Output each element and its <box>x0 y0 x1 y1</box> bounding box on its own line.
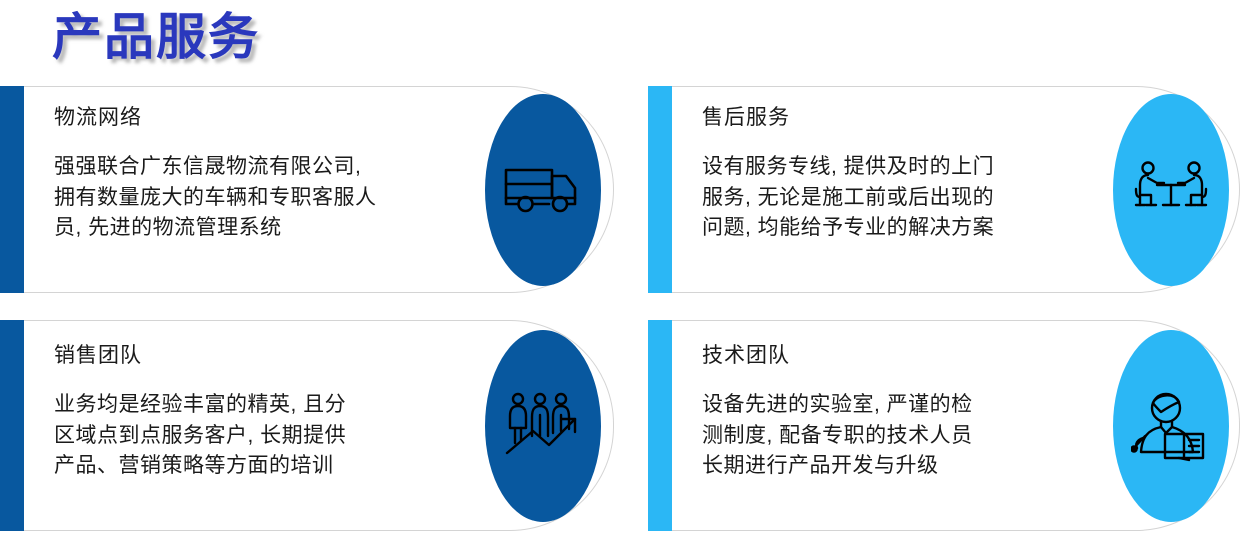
card-accent-bar <box>0 320 24 531</box>
team-growth-chart-icon <box>503 391 583 461</box>
card-title: 售后服务 <box>702 105 1109 130</box>
card-description: 强强联合广东信晟物流有限公司, 拥有数量庞大的车辆和专职客服人 员, 先进的物流… <box>54 152 483 243</box>
delivery-truck-icon <box>504 164 582 216</box>
card-accent-bar <box>648 86 672 293</box>
card-title: 物流网络 <box>54 105 483 130</box>
page-title: 产品服务 <box>52 12 260 62</box>
card-icon-bubble <box>485 330 601 522</box>
card-title: 销售团队 <box>54 343 483 368</box>
card-title: 技术团队 <box>702 343 1109 368</box>
service-card-sales-team[interactable]: 销售团队 业务均是经验丰富的精英, 且分 区域点到点服务客户, 长期提供 产品、… <box>0 320 614 531</box>
card-accent-bar <box>648 320 672 531</box>
card-description: 设有服务专线, 提供及时的上门 服务, 无论是施工前或后出现的 问题, 均能给予… <box>702 152 1109 243</box>
service-card-logistics[interactable]: 物流网络 强强联合广东信晟物流有限公司, 拥有数量庞大的车辆和专职客服人 员, … <box>0 86 614 293</box>
service-card-after-sales[interactable]: 售后服务 设有服务专线, 提供及时的上门 服务, 无论是施工前或后出现的 问题,… <box>648 86 1240 293</box>
card-body: 售后服务 设有服务专线, 提供及时的上门 服务, 无论是施工前或后出现的 问题,… <box>672 86 1240 293</box>
card-body: 销售团队 业务均是经验丰富的精英, 且分 区域点到点服务客户, 长期提供 产品、… <box>24 320 614 531</box>
two-people-at-table-icon <box>1131 159 1211 221</box>
card-icon-bubble <box>1113 94 1229 286</box>
card-icon-bubble <box>1113 330 1229 522</box>
card-body: 技术团队 设备先进的实验室, 严谨的检 测制度, 配备专职的技术人员 长期进行产… <box>672 320 1240 531</box>
instructor-with-book-icon <box>1131 390 1211 462</box>
card-description: 业务均是经验丰富的精英, 且分 区域点到点服务客户, 长期提供 产品、营销策略等… <box>54 390 483 481</box>
card-accent-bar <box>0 86 24 293</box>
card-description: 设备先进的实验室, 严谨的检 测制度, 配备专职的技术人员 长期进行产品开发与升… <box>702 390 1109 481</box>
card-body: 物流网络 强强联合广东信晟物流有限公司, 拥有数量庞大的车辆和专职客服人 员, … <box>24 86 614 293</box>
service-card-tech-team[interactable]: 技术团队 设备先进的实验室, 严谨的检 测制度, 配备专职的技术人员 长期进行产… <box>648 320 1240 531</box>
card-icon-bubble <box>485 94 601 286</box>
service-card-grid: 物流网络 强强联合广东信晟物流有限公司, 拥有数量庞大的车辆和专职客服人 员, … <box>0 86 1240 538</box>
